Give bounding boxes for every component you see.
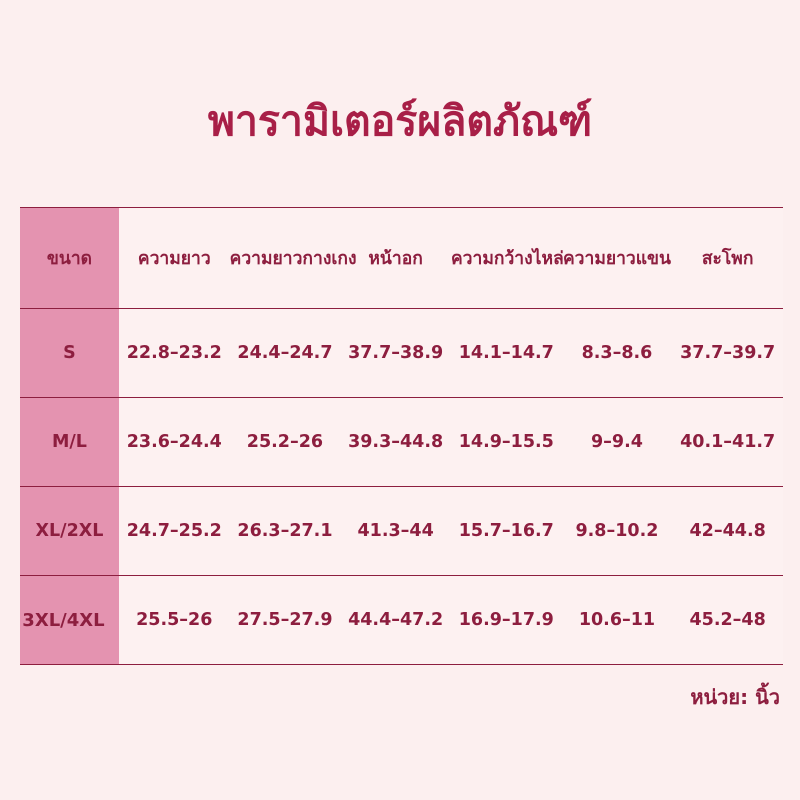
- size-chart-container: ขนาด ความยาว ความยาวกางเกง หน้าอก ความกว…: [20, 207, 783, 665]
- cell-hips: 42–44.8: [672, 487, 783, 576]
- column-header-size: ขนาด: [20, 208, 119, 309]
- cell-length: 22.8–23.2: [119, 309, 230, 398]
- column-header-length: ความยาว: [119, 208, 230, 309]
- column-header-pants-length: ความยาวกางเกง: [230, 208, 341, 309]
- row-size-label: XL/2XL: [20, 487, 119, 576]
- cell-chest: 41.3–44: [340, 487, 451, 576]
- cell-shoulder-width: 14.1–14.7: [451, 309, 562, 398]
- cell-shoulder-width: 14.9–15.5: [451, 398, 562, 487]
- row-size-label-text: 3XL/4XL: [8, 610, 118, 631]
- cell-sleeve-length: 9–9.4: [562, 398, 673, 487]
- column-header-sleeve-length: ความยาวแขน: [562, 208, 673, 309]
- cell-length: 24.7–25.2: [119, 487, 230, 576]
- cell-chest: 44.4–47.2: [340, 576, 451, 665]
- cell-hips: 45.2–48: [672, 576, 783, 665]
- table-header: ขนาด ความยาว ความยาวกางเกง หน้าอก ความกว…: [20, 208, 783, 309]
- column-header-hips: สะโพก: [672, 208, 783, 309]
- cell-hips: 40.1–41.7: [672, 398, 783, 487]
- cell-shoulder-width: 16.9–17.9: [451, 576, 562, 665]
- product-parameters-page: พารามิเตอร์ผลิตภัณฑ์ ขนาด ความยาว ความยา…: [0, 0, 800, 800]
- cell-shoulder-width: 15.7–16.7: [451, 487, 562, 576]
- table-body: S 22.8–23.2 24.4–24.7 37.7–38.9 14.1–14.…: [20, 309, 783, 665]
- cell-sleeve-length: 8.3–8.6: [562, 309, 673, 398]
- cell-hips: 37.7–39.7: [672, 309, 783, 398]
- cell-pants-length: 27.5–27.9: [230, 576, 341, 665]
- table-row: XL/2XL 24.7–25.2 26.3–27.1 41.3–44 15.7–…: [20, 487, 783, 576]
- cell-pants-length: 26.3–27.1: [230, 487, 341, 576]
- row-size-label: M/L: [20, 398, 119, 487]
- cell-chest: 39.3–44.8: [340, 398, 451, 487]
- row-size-label: 3XL/4XL: [20, 576, 119, 665]
- cell-length: 25.5–26: [119, 576, 230, 665]
- cell-chest: 37.7–38.9: [340, 309, 451, 398]
- size-chart-table: ขนาด ความยาว ความยาวกางเกง หน้าอก ความกว…: [20, 207, 783, 665]
- cell-sleeve-length: 10.6–11: [562, 576, 673, 665]
- page-title: พารามิเตอร์ผลิตภัณฑ์: [0, 96, 800, 147]
- cell-length: 23.6–24.4: [119, 398, 230, 487]
- cell-sleeve-length: 9.8–10.2: [562, 487, 673, 576]
- table-header-row: ขนาด ความยาว ความยาวกางเกง หน้าอก ความกว…: [20, 208, 783, 309]
- row-size-label: S: [20, 309, 119, 398]
- table-row: S 22.8–23.2 24.4–24.7 37.7–38.9 14.1–14.…: [20, 309, 783, 398]
- column-header-chest: หน้าอก: [340, 208, 451, 309]
- cell-pants-length: 24.4–24.7: [230, 309, 341, 398]
- table-row: M/L 23.6–24.4 25.2–26 39.3–44.8 14.9–15.…: [20, 398, 783, 487]
- cell-pants-length: 25.2–26: [230, 398, 341, 487]
- unit-note: หน่วย: นิ้ว: [690, 681, 780, 713]
- table-row: 3XL/4XL 25.5–26 27.5–27.9 44.4–47.2 16.9…: [20, 576, 783, 665]
- column-header-shoulder-width: ความกว้างไหล่: [451, 208, 562, 309]
